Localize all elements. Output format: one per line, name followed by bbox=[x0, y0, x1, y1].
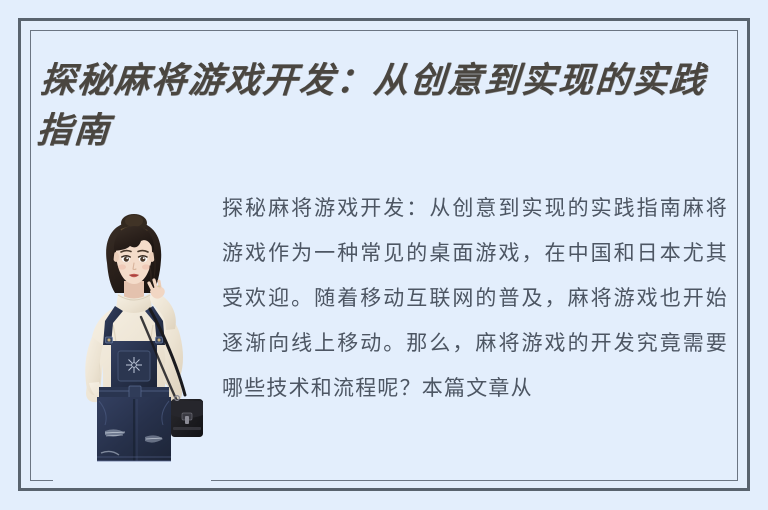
person-illustration bbox=[53, 205, 211, 483]
illustration-figure: 年轻女性插画：深色丸子头，米白色高领衬衫，藏蓝色背带裤，黑色斜挎包 bbox=[53, 205, 211, 483]
article-card: 探秘麻将游戏开发：从创意到实现的实践指南 bbox=[0, 0, 768, 510]
page-title: 探秘麻将游戏开发：从创意到实现的实践指南 bbox=[35, 56, 742, 156]
article-body: 探秘麻将游戏开发：从创意到实现的实践指南麻将游戏作为一种常见的桌面游戏，在中国和… bbox=[222, 186, 728, 411]
